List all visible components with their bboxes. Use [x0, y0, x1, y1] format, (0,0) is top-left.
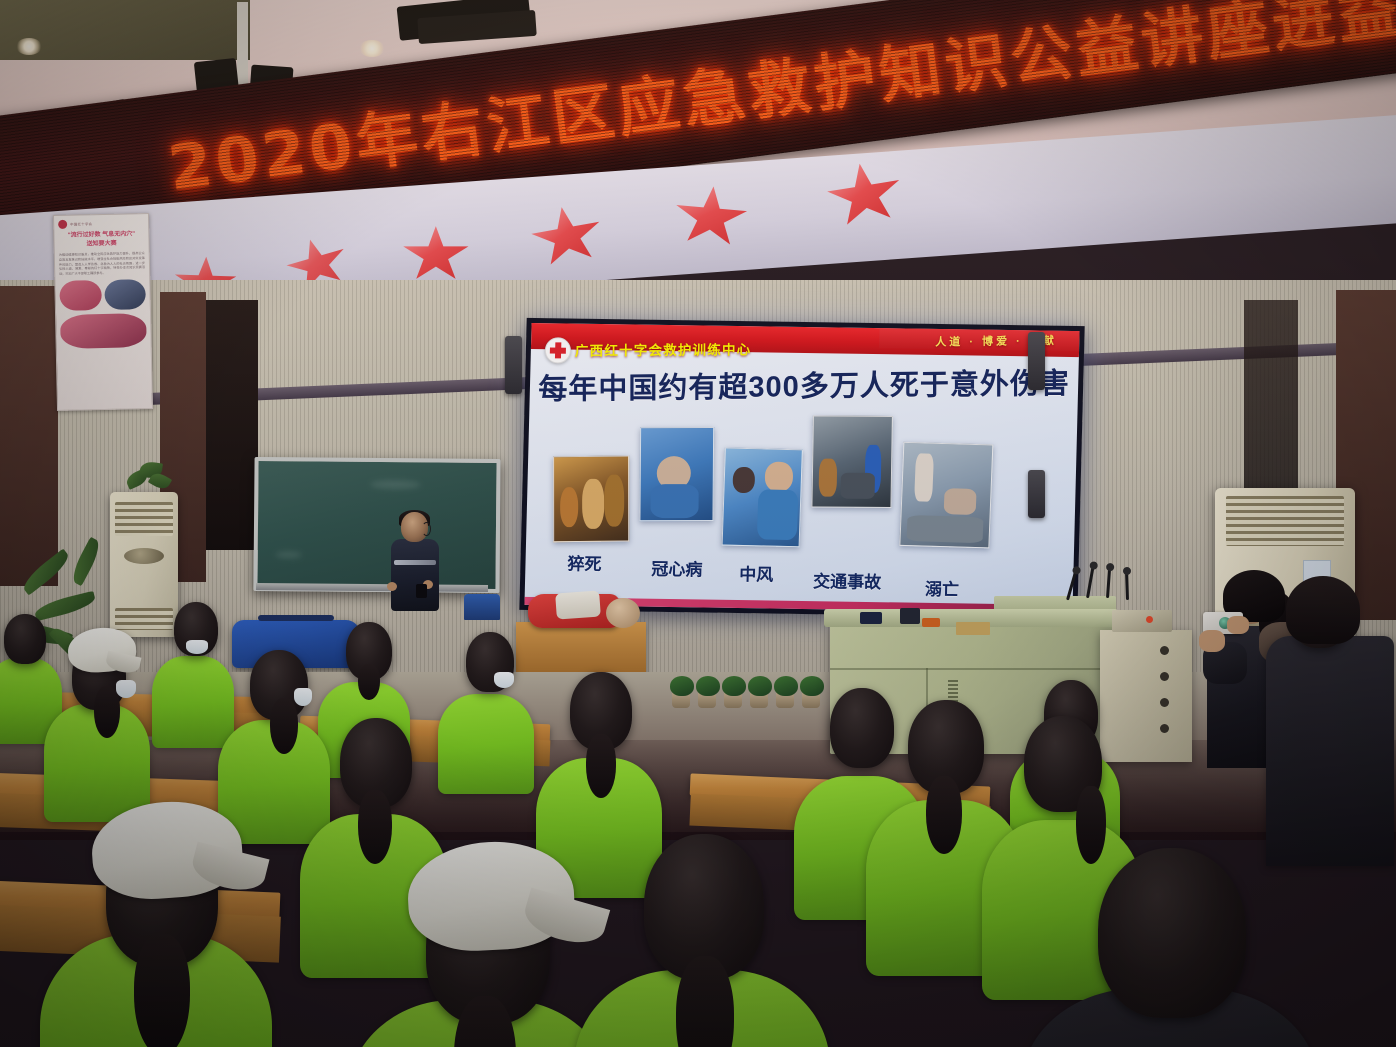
photo-coronary-heart-disease — [639, 427, 714, 521]
cpr-manikin-bib — [555, 590, 601, 619]
instructor-uniform-stripe — [394, 560, 436, 565]
ceiling-light — [16, 38, 42, 55]
ceiling-light — [359, 40, 385, 57]
plant-leaf — [19, 548, 73, 595]
slide-surface: 广西红十字会救护训练中心 人道 · 博爱 · 奉献 每年中国约有超300多万人死… — [524, 323, 1079, 613]
decorative-star — [402, 226, 470, 284]
cpr-manikin-head — [606, 598, 640, 628]
slide-photo-row — [526, 403, 1078, 551]
slide-org-name: 广西红十字会救护训练中心 — [575, 338, 752, 359]
attendee-hair — [1286, 576, 1360, 644]
plant-foliage — [696, 676, 720, 696]
attendee-ponytail — [94, 686, 120, 738]
lectern-equipment — [860, 612, 882, 624]
wall-poster: 中国红十字会 "流行过好数 气息无内穴" 送知要大赛 为推动健康知识普及，推动全… — [53, 213, 153, 411]
wall-speaker — [1028, 332, 1045, 390]
caption-sudden-death: 猝死 — [567, 550, 602, 575]
photo-stroke — [722, 448, 803, 548]
attendee-head — [830, 688, 894, 768]
screen-frame: 广西红十字会救护训练中心 人道 · 博爱 · 奉献 每年中国约有超300多万人死… — [519, 318, 1084, 618]
face-mask — [294, 688, 312, 706]
attendee-ponytail — [270, 698, 298, 754]
cabinet-vent-hole — [1160, 724, 1169, 733]
poster-image — [59, 280, 101, 311]
attendee-ponytail — [1076, 786, 1106, 864]
side-cabinet — [1100, 630, 1192, 762]
wall-speaker — [1028, 470, 1045, 518]
poster-image — [60, 313, 147, 349]
cabinet-equipment — [1112, 610, 1172, 632]
instructor-uniform — [391, 539, 439, 611]
plant-row — [672, 676, 822, 710]
blue-chair — [464, 594, 500, 620]
poster-logo: 中国红十字会 — [58, 218, 144, 229]
attendee-head — [1098, 848, 1246, 1018]
attendee-head — [4, 614, 46, 664]
attendee-uniform — [152, 656, 234, 748]
plant-foliage — [748, 676, 772, 696]
photo-drowning — [899, 442, 993, 549]
plant-leaf — [33, 591, 97, 622]
lectern-equipment — [956, 622, 990, 635]
potted-plant-on-ac — [126, 462, 170, 496]
poster-body-text: 为推动健康知识普及，推动全民应急救护能力提升，提高公众自救互救意识和技能水平，增… — [59, 251, 145, 277]
poster-title-line2: 送知要大赛 — [59, 239, 145, 250]
attendee-ponytail — [134, 934, 190, 1047]
caption-stroke: 中风 — [739, 560, 774, 585]
green-chalkboard — [253, 457, 500, 593]
attendee-ponytail — [358, 790, 392, 864]
instructor-remote — [416, 584, 427, 598]
slide-title: 每年中国约有超300多万人死于意外伤害 — [530, 360, 1078, 408]
decorative-star — [526, 201, 607, 273]
wall-dark-opening — [206, 300, 258, 550]
poster-image — [104, 279, 146, 310]
cabinet-vent-hole — [1160, 646, 1169, 655]
wall-speaker — [505, 336, 522, 394]
plant-foliage — [670, 676, 694, 696]
decorative-star — [671, 183, 750, 251]
lectern-equipment — [900, 608, 920, 624]
chalk-smudge — [276, 551, 302, 558]
cabinet-vent-hole — [1160, 698, 1169, 707]
poster-logo-icon — [58, 220, 67, 229]
instructor-hand — [387, 582, 397, 591]
plant-leaf — [68, 537, 104, 586]
ac-grill — [1226, 496, 1344, 546]
attendee-ponytail — [926, 776, 962, 854]
decorative-star — [822, 158, 907, 233]
face-mask — [494, 672, 514, 688]
cabinet-vent-hole — [1160, 672, 1169, 681]
photographer-hand — [1227, 616, 1249, 634]
lectern-seam — [830, 668, 1112, 670]
headset-microphone-icon — [422, 522, 431, 536]
face-mask — [116, 680, 136, 698]
plant-foliage — [774, 676, 798, 696]
chalk-smudge — [370, 480, 420, 489]
photo-traffic-accident — [811, 416, 893, 508]
caption-traffic-accident: 交通事故 — [813, 567, 882, 593]
photographer-hand — [1199, 630, 1225, 652]
caption-drowning: 溺亡 — [925, 575, 960, 600]
cabinet-equipment-light — [1146, 616, 1153, 623]
red-cross-logo-icon — [545, 337, 572, 363]
poster-image-row — [59, 279, 146, 311]
plant-foliage — [722, 676, 746, 696]
lectern-equipment — [922, 618, 940, 627]
attendee-uniform — [438, 694, 534, 794]
bag-strap — [258, 615, 335, 621]
attendee-ponytail — [358, 664, 380, 700]
lecture-hall-photo: 2020年右江区应急救护知识公益讲座进益众公司专场培训 中国红十字会 "流行过好… — [0, 0, 1396, 1047]
plant-foliage — [800, 676, 824, 696]
attendee-ponytail — [676, 956, 734, 1047]
attendee-dark-jacket — [1266, 636, 1394, 866]
instructor — [389, 512, 441, 624]
cross-horizontal — [550, 348, 566, 354]
caption-coronary: 冠心病 — [651, 555, 703, 581]
poster-logo-text: 中国红十字会 — [70, 221, 92, 226]
manikin-table — [516, 622, 646, 676]
photo-sudden-death — [553, 455, 629, 542]
ac-grill — [115, 502, 172, 536]
wall-dark-opening — [1244, 300, 1298, 520]
face-mask — [186, 640, 208, 654]
projection-screen: 广西红十字会救护训练中心 人道 · 博爱 · 奉献 每年中国约有超300多万人死… — [519, 318, 1084, 618]
attendee-ponytail — [586, 734, 616, 798]
